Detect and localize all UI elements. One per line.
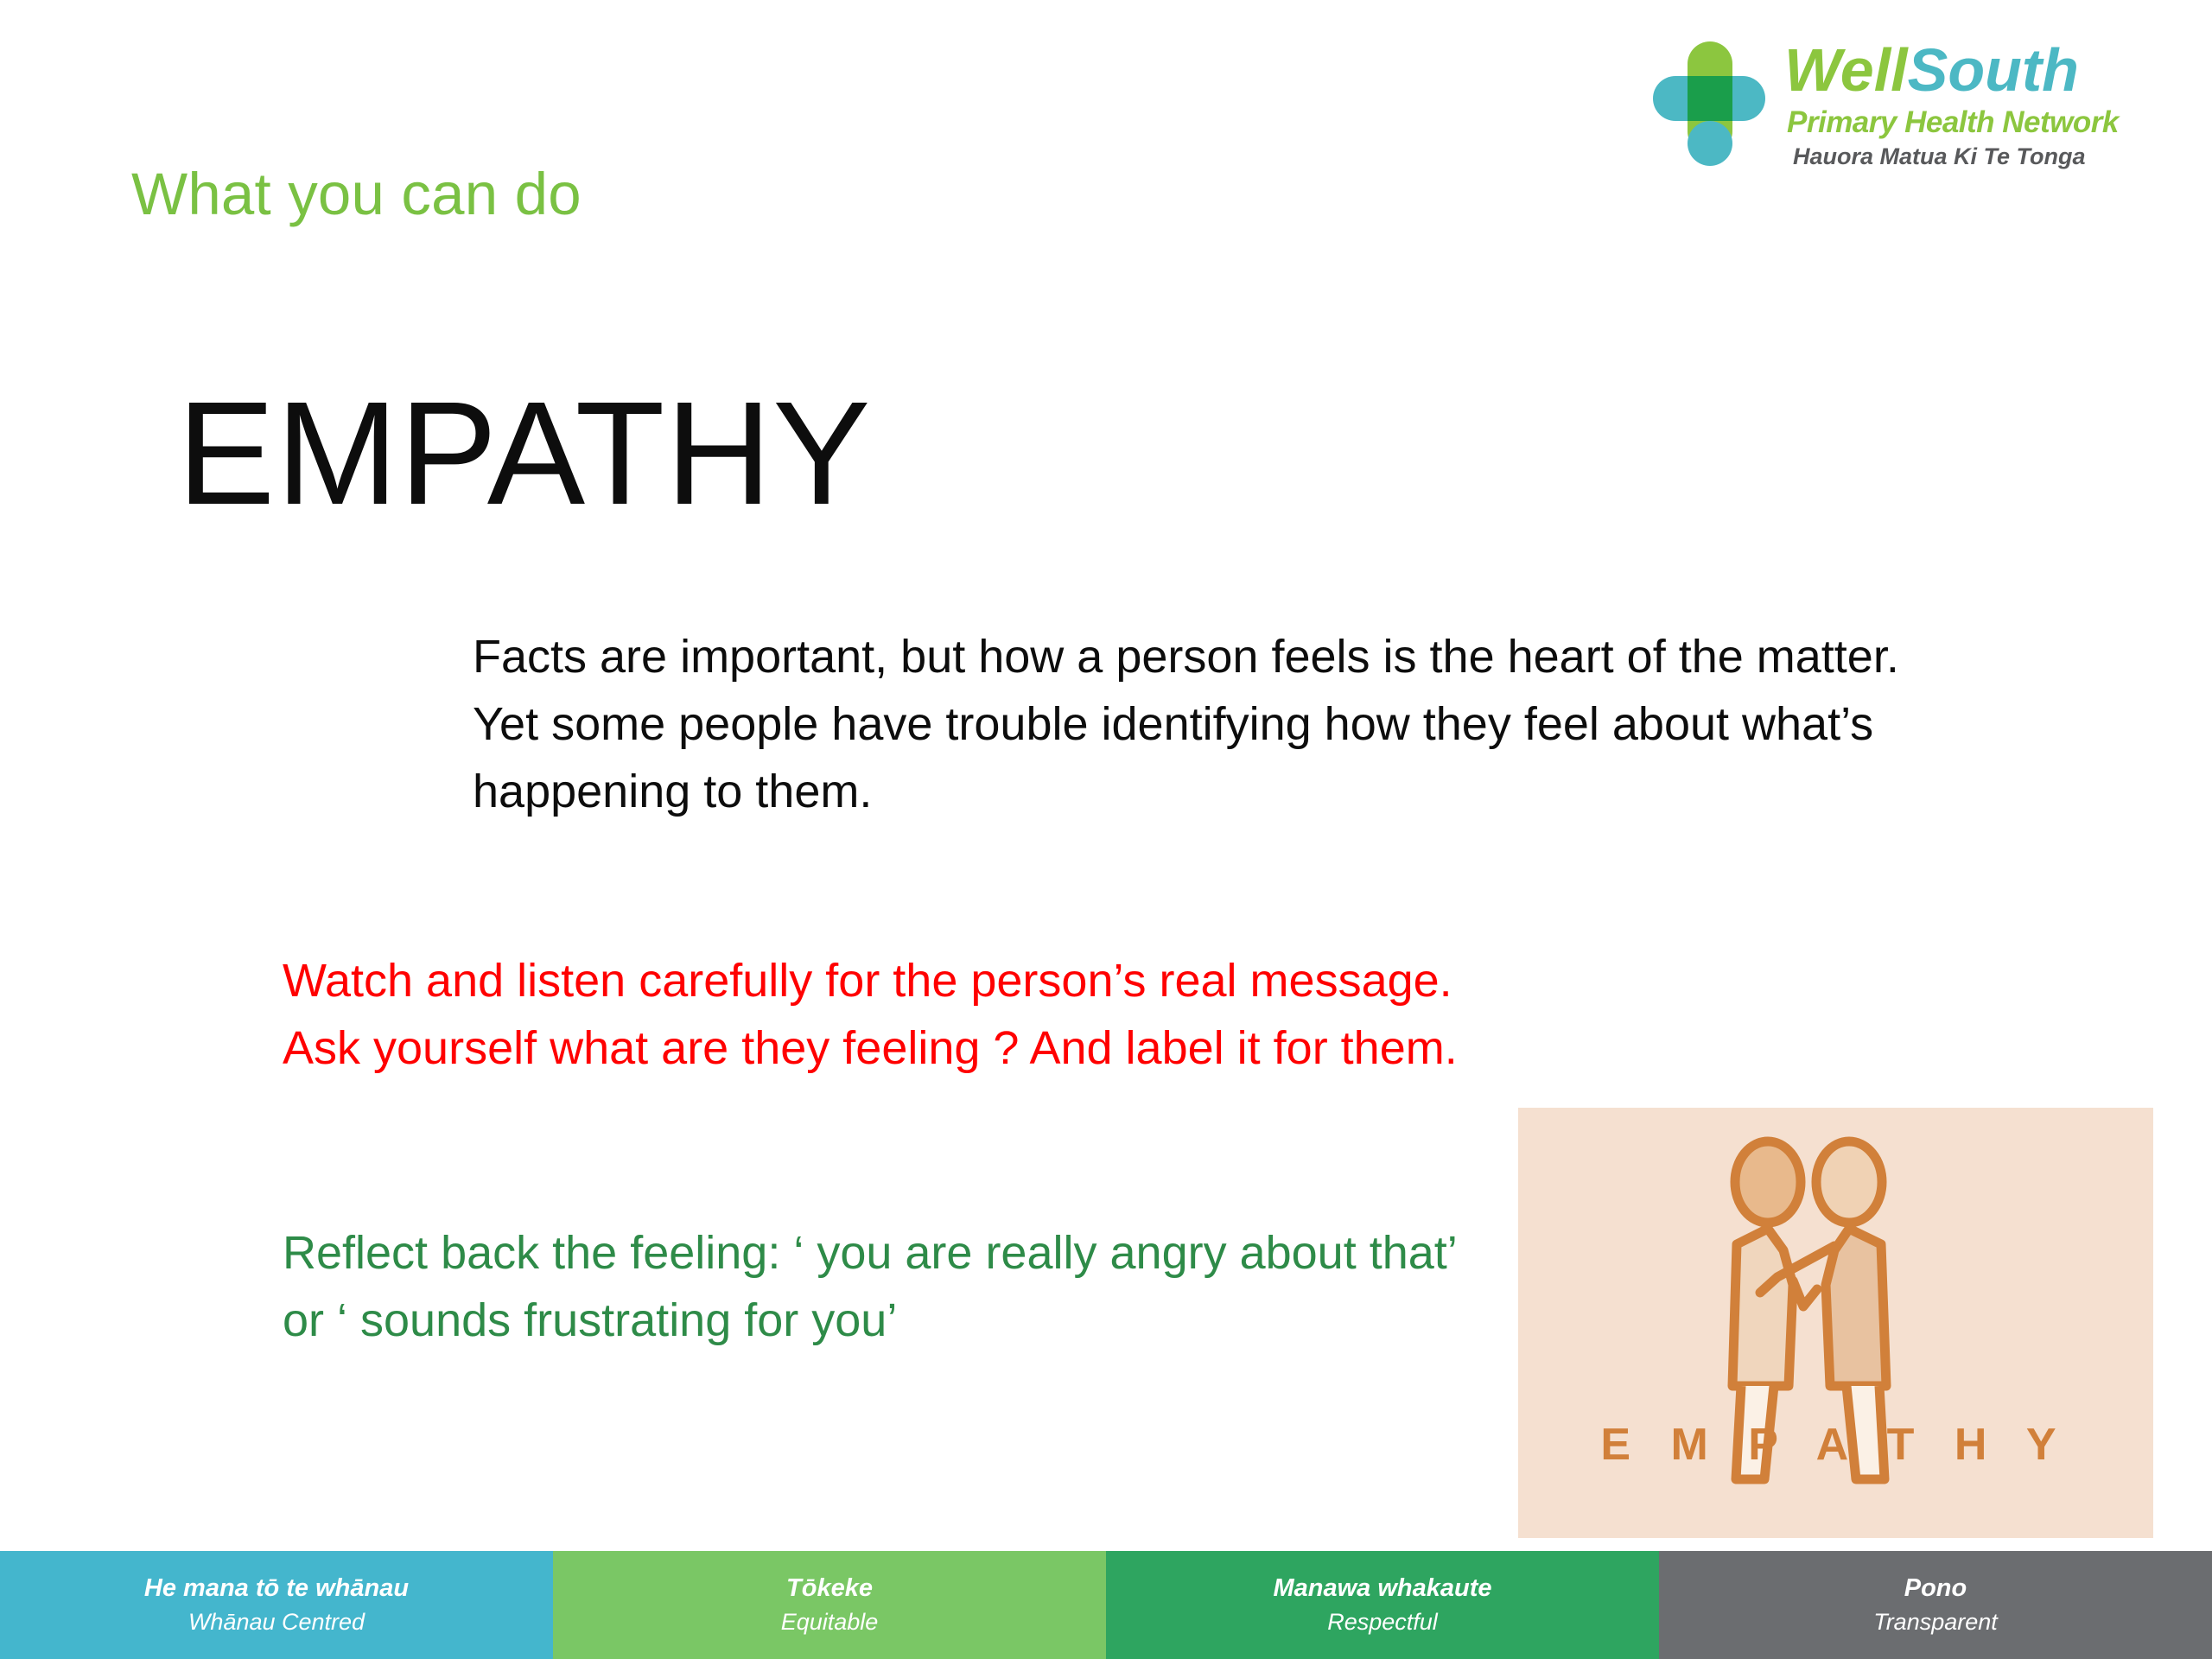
value-cell-transparent: Pono Transparent — [1659, 1551, 2212, 1659]
red-instruction-text: Watch and listen carefully for the perso… — [283, 948, 1458, 1083]
value-maori-label: He mana tō te whānau — [144, 1573, 409, 1603]
value-english-label: Transparent — [1873, 1609, 1998, 1637]
value-maori-label: Tōkeke — [786, 1573, 873, 1603]
value-maori-label: Manawa whakaute — [1273, 1573, 1491, 1603]
value-cell-respectful: Manawa whakaute Respectful — [1106, 1551, 1659, 1659]
values-footer-bar: He mana tō te whānau Whānau Centred Tōke… — [0, 1551, 2212, 1659]
main-heading: EMPATHY — [177, 380, 872, 527]
empathy-illustration: E M P A T H Y — [1518, 1108, 2153, 1538]
svg-text:Primary Health Network: Primary Health Network — [1787, 105, 2120, 139]
value-english-label: Respectful — [1327, 1609, 1438, 1637]
empathy-caption: E M P A T H Y — [1600, 1420, 2069, 1470]
value-english-label: Whānau Centred — [188, 1609, 365, 1637]
slide-canvas: WellSouth Primary Health Network Hauora … — [0, 0, 2212, 1659]
svg-text:WellSouth: WellSouth — [1784, 36, 2079, 104]
green-instruction-text: Reflect back the feeling: ‘ you are real… — [283, 1220, 1458, 1355]
page-title: What you can do — [131, 160, 582, 228]
svg-text:Hauora Matua Ki Te Tonga: Hauora Matua Ki Te Tonga — [1793, 143, 2086, 169]
value-cell-equitable: Tōkeke Equitable — [553, 1551, 1106, 1659]
intro-paragraph: Facts are important, but how a person fe… — [473, 624, 1959, 825]
value-english-label: Equitable — [781, 1609, 879, 1637]
wellsouth-logo: WellSouth Primary Health Network Hauora … — [1646, 26, 2173, 186]
value-maori-label: Pono — [1904, 1573, 1967, 1603]
value-cell-whanau-centred: He mana tō te whānau Whānau Centred — [0, 1551, 553, 1659]
